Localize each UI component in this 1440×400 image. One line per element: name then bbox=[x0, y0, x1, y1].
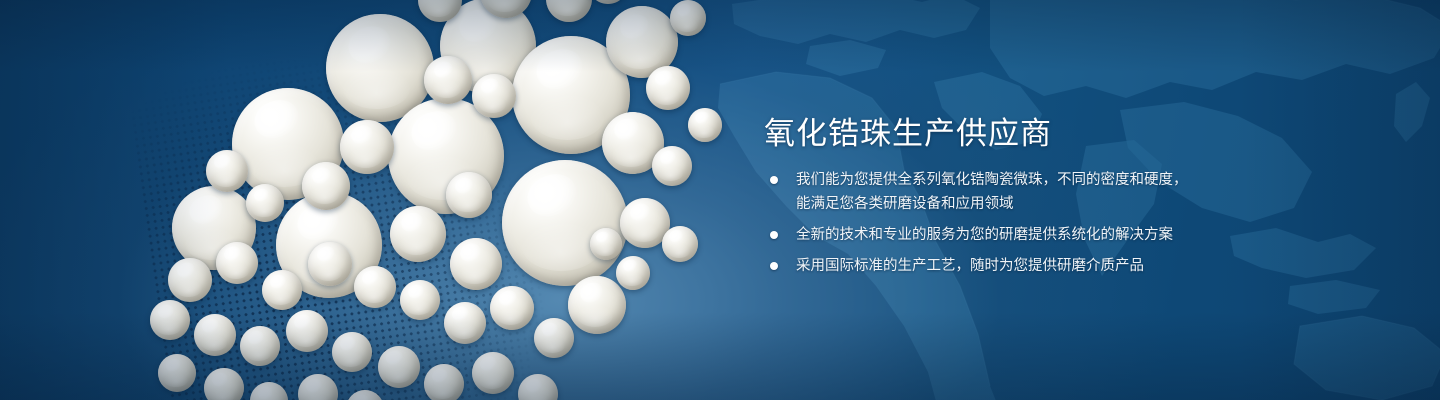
bead bbox=[308, 242, 352, 286]
bead bbox=[546, 0, 592, 22]
feature-item: 采用国际标准的生产工艺，随时为您提供研磨介质产品 bbox=[768, 254, 1188, 278]
bead bbox=[646, 66, 690, 110]
bead bbox=[286, 310, 328, 352]
bead bbox=[250, 382, 288, 400]
bead bbox=[340, 120, 394, 174]
bead bbox=[472, 74, 516, 118]
bead bbox=[346, 390, 384, 400]
bead bbox=[194, 314, 236, 356]
banner-headline: 氧化锆珠生产供应商 bbox=[764, 108, 1052, 153]
feature-text-line: 采用国际标准的生产工艺，随时为您提供研磨介质产品 bbox=[796, 254, 1188, 278]
banner-content: 氧化锆珠生产供应商 我们能为您提供全系列氧化锆陶瓷微珠，不同的密度和硬度， 能满… bbox=[764, 0, 1324, 400]
bead bbox=[490, 286, 534, 330]
bead bbox=[216, 242, 258, 284]
bead bbox=[240, 326, 280, 366]
bead bbox=[446, 172, 492, 218]
feature-text-line: 我们能为您提供全系列氧化锆陶瓷微珠，不同的密度和硬度， bbox=[796, 168, 1188, 192]
bead bbox=[588, 0, 628, 4]
feature-list: 我们能为您提供全系列氧化锆陶瓷微珠，不同的密度和硬度， 能满足您各类研磨设备和应… bbox=[768, 168, 1188, 285]
feature-text-line: 能满足您各类研磨设备和应用领域 bbox=[796, 192, 1188, 216]
bead bbox=[204, 368, 244, 400]
bead bbox=[262, 270, 302, 310]
bead bbox=[424, 56, 472, 104]
bullet-dot-icon bbox=[770, 262, 778, 270]
bead bbox=[302, 162, 350, 210]
bead bbox=[534, 318, 574, 358]
feature-text-line: 全新的技术和专业的服务为您的研磨提供系统化的解决方案 bbox=[796, 223, 1188, 247]
bead bbox=[444, 302, 486, 344]
feature-item: 全新的技术和专业的服务为您的研磨提供系统化的解决方案 bbox=[768, 223, 1188, 247]
feature-item: 我们能为您提供全系列氧化锆陶瓷微珠，不同的密度和硬度， 能满足您各类研磨设备和应… bbox=[768, 168, 1188, 216]
bead-cluster bbox=[150, 0, 770, 400]
bullet-dot-icon bbox=[770, 231, 778, 239]
bead bbox=[590, 228, 622, 260]
bead bbox=[150, 300, 190, 340]
bead bbox=[662, 226, 698, 262]
bead bbox=[502, 160, 628, 286]
bullet-dot-icon bbox=[770, 176, 778, 184]
bead bbox=[298, 374, 338, 400]
bead bbox=[652, 146, 692, 186]
bead bbox=[568, 276, 626, 334]
bead bbox=[688, 108, 722, 142]
bead bbox=[332, 332, 372, 372]
bead bbox=[246, 184, 284, 222]
bead bbox=[206, 150, 248, 192]
zirconia-beads-photo bbox=[150, 0, 770, 400]
bead bbox=[390, 206, 446, 262]
bead bbox=[378, 346, 420, 388]
bead bbox=[616, 256, 650, 290]
bead bbox=[354, 266, 396, 308]
bead bbox=[472, 352, 514, 394]
bead bbox=[158, 354, 196, 392]
bead bbox=[400, 280, 440, 320]
bead bbox=[670, 0, 706, 36]
bead bbox=[518, 374, 558, 400]
bead bbox=[168, 258, 212, 302]
bead bbox=[450, 238, 502, 290]
hero-banner: 氧化锆珠生产供应商 我们能为您提供全系列氧化锆陶瓷微珠，不同的密度和硬度， 能满… bbox=[0, 0, 1440, 400]
bead bbox=[424, 364, 464, 400]
